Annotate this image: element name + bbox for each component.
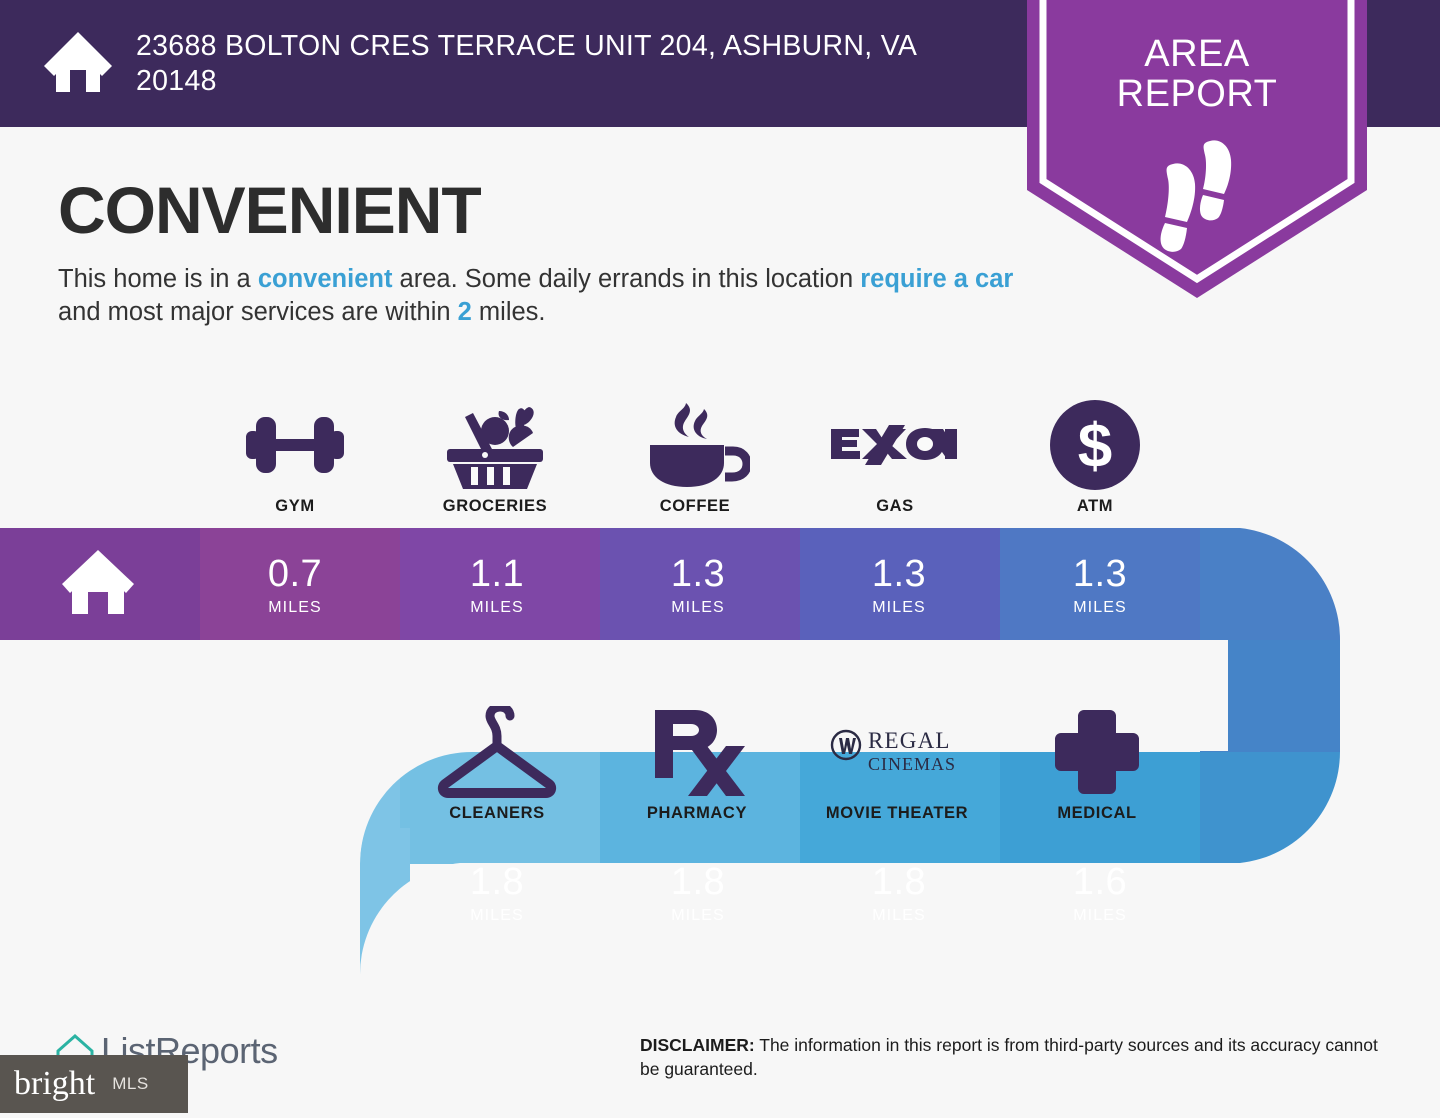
amenity-label: CLEANERS [449, 804, 545, 823]
distance-cell-gym: 0.7 MILES [195, 555, 395, 616]
distance-cell-medical: 1.6 MILES [1000, 863, 1200, 924]
amenity-label: GROCERIES [443, 497, 547, 516]
svg-text:REGAL: REGAL [868, 728, 951, 753]
dumbbell-icon [232, 399, 358, 491]
desc-part-0: This home is in a [58, 265, 258, 293]
mls-brand: bright [14, 1065, 95, 1103]
desc-part-6: miles. [472, 298, 546, 326]
distance-cell-pharmacy: 1.8 MILES [598, 863, 798, 924]
desc-part-3: require a car [860, 265, 1013, 293]
amenity-label: ATM [1077, 497, 1113, 516]
distance-cell-atm: 1.3 MILES [1000, 555, 1200, 616]
basket-icon [441, 399, 549, 491]
amenity-label: GYM [275, 497, 314, 516]
amenity-cleaners: CLEANERS [397, 693, 597, 823]
page-title: 23688 BOLTON CRES TERRACE UNIT 204, ASHB… [136, 29, 996, 99]
coffee-cup-icon [640, 399, 750, 491]
amenity-label: MEDICAL [1057, 804, 1136, 823]
distance-cell-coffee: 1.3 MILES [598, 555, 798, 616]
medical-cross-icon [1053, 706, 1141, 798]
amenity-label: COFFEE [660, 497, 731, 516]
disclaimer-label: DISCLAIMER: [640, 1035, 755, 1055]
rx-icon [649, 706, 745, 798]
amenity-coffee: COFFEE [595, 386, 795, 516]
area-report-badge: AREA REPORT [1027, 0, 1367, 298]
home-icon [42, 28, 114, 99]
amenity-label: MOVIE THEATER [826, 804, 968, 823]
amenity-groceries: GROCERIES [395, 386, 595, 516]
amenity-gym: GYM [195, 386, 395, 516]
desc-part-2: area. Some daily errands in this locatio… [392, 265, 860, 293]
desc-part-4: and most major services are within [58, 298, 458, 326]
home-marker-icon [60, 548, 136, 621]
desc-part-1: convenient [258, 265, 393, 293]
exxon-logo-icon [829, 399, 961, 491]
headline-title: CONVENIENT [58, 172, 481, 248]
amenity-label: GAS [876, 497, 914, 516]
distance-cell-gas: 1.3 MILES [799, 555, 999, 616]
dollar-circle-icon: $ [1049, 399, 1141, 491]
bright-mls-watermark: bright MLS [0, 1055, 188, 1113]
badge-text: AREA REPORT [1027, 34, 1367, 115]
svg-text:$: $ [1078, 412, 1112, 481]
amenity-movie-theater: REGAL CINEMAS MOVIE THEATER [797, 693, 997, 823]
amenity-row-1: GYM [195, 386, 1195, 516]
regal-cinemas-icon: REGAL CINEMAS [828, 706, 966, 798]
distance-cell-movie-theater: 1.8 MILES [799, 863, 999, 924]
disclaimer: DISCLAIMER: The information in this repo… [640, 1034, 1400, 1081]
amenity-pharmacy: PHARMACY [597, 693, 797, 823]
distance-cell-cleaners: 1.8 MILES [397, 863, 597, 924]
svg-text:CINEMAS: CINEMAS [868, 754, 956, 774]
amenity-row-2: CLEANERS PHARMACY [397, 693, 1197, 823]
desc-part-5: 2 [458, 298, 472, 326]
amenity-atm: $ ATM [995, 386, 1195, 516]
mls-suffix: MLS [112, 1074, 148, 1094]
distance-cell-groceries: 1.1 MILES [397, 555, 597, 616]
hanger-icon [435, 706, 559, 798]
amenity-label: PHARMACY [647, 804, 747, 823]
headline-description: This home is in a convenient area. Some … [58, 263, 1018, 328]
badge-line-1: AREA [1027, 34, 1367, 74]
amenity-medical: MEDICAL [997, 693, 1197, 823]
badge-line-2: REPORT [1027, 74, 1367, 114]
amenity-gas: GAS [795, 386, 995, 516]
